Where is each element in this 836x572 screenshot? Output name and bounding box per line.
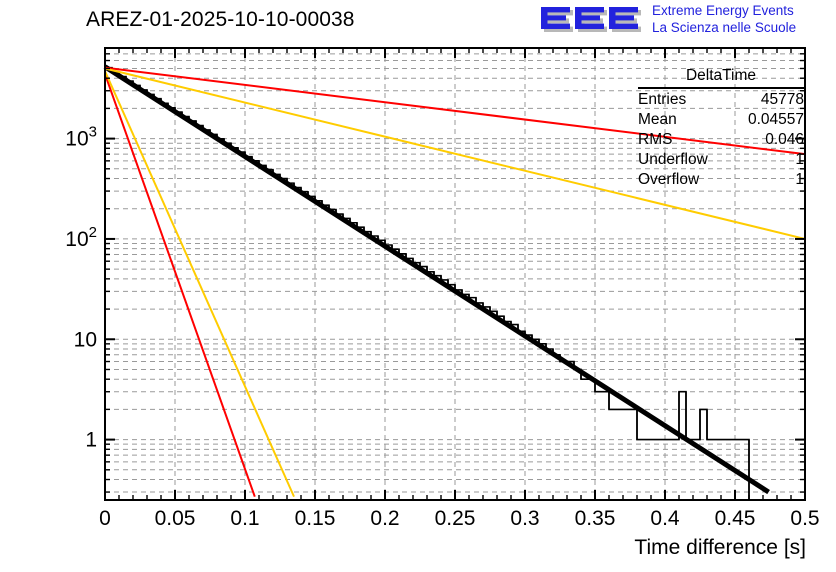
stats-row-key: Entries (638, 90, 686, 110)
fit-line-yellow-1 (105, 71, 294, 496)
x-tick-label: 0.45 (715, 507, 756, 530)
x-tick-label: 0.4 (650, 507, 680, 530)
stats-row-key: RMS (638, 130, 672, 150)
stats-row-value: 0.04557 (748, 110, 804, 130)
x-tick-label: 0.25 (435, 507, 476, 530)
x-tick-label: 0.15 (295, 507, 336, 530)
stats-row-value: 1 (795, 150, 804, 170)
stats-row-key: Underflow (638, 150, 708, 170)
fit-line-red-1 (105, 74, 255, 497)
y-tick-label: 102 (65, 224, 97, 251)
stats-divider (638, 87, 804, 89)
stats-row-key: Overflow (638, 170, 699, 190)
x-tick-label: 0.1 (230, 507, 259, 530)
stats-row: RMS0.046 (638, 130, 804, 150)
stats-row: Overflow1 (638, 170, 804, 190)
x-tick-label: 0.05 (155, 507, 196, 530)
stats-title: DeltaTime (638, 66, 804, 87)
y-axis-tick-labels: 110102103 (65, 124, 97, 452)
stats-row-value: 1 (795, 170, 804, 190)
x-tick-label: 0.35 (575, 507, 616, 530)
stats-rows: Entries45778Mean0.04557RMS0.046Underflow… (638, 90, 804, 190)
x-tick-label: 0 (99, 507, 111, 530)
x-tick-label: 0.3 (510, 507, 539, 530)
stats-box: DeltaTime Entries45778Mean0.04557RMS0.04… (638, 66, 804, 190)
x-tick-label: 0.5 (790, 507, 819, 530)
stats-row: Mean0.04557 (638, 110, 804, 130)
stats-row-key: Mean (638, 110, 677, 130)
y-tick-label: 10 (74, 328, 97, 351)
x-axis-tick-labels: 00.050.10.150.20.250.30.350.40.450.5 (99, 507, 819, 530)
stats-row: Entries45778 (638, 90, 804, 110)
stats-row-value: 0.046 (765, 130, 804, 150)
x-tick-label: 0.2 (370, 507, 399, 530)
y-tick-label: 1 (85, 429, 97, 452)
y-tick-label: 103 (65, 124, 97, 151)
stats-row-value: 45778 (761, 90, 804, 110)
stats-row: Underflow1 (638, 150, 804, 170)
